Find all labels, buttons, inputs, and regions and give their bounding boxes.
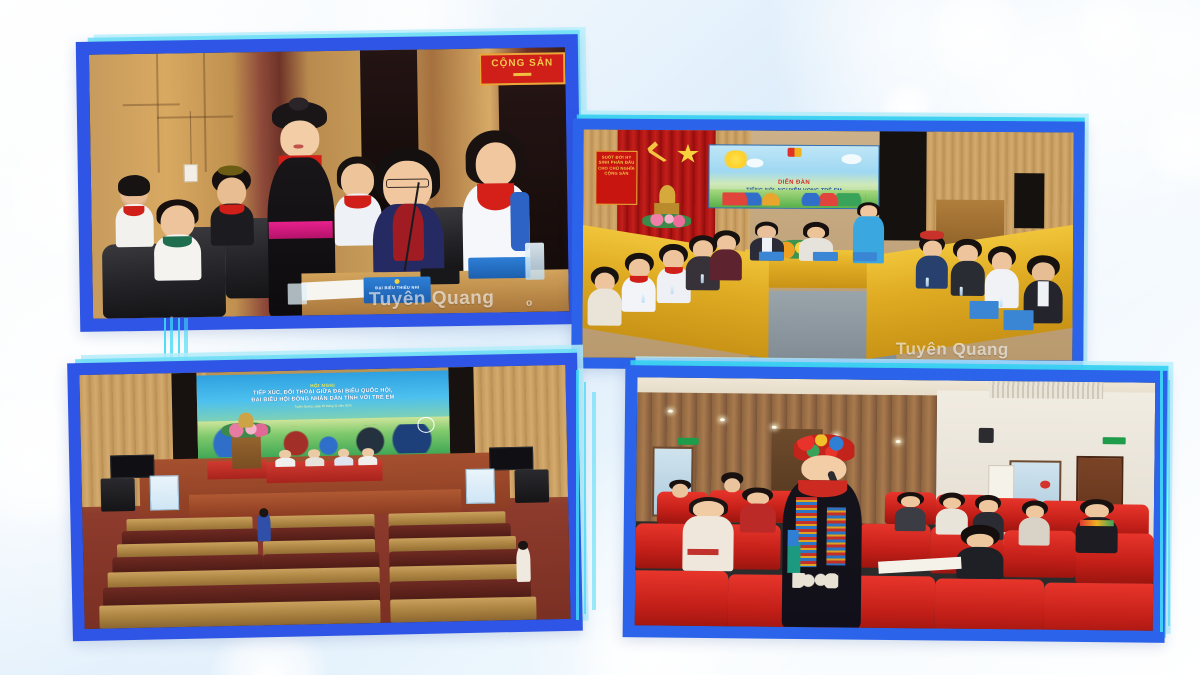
head — [922, 241, 941, 258]
glasses — [386, 179, 429, 188]
plate-emblem — [395, 279, 400, 284]
wall-notice — [183, 164, 198, 183]
red-scarf — [344, 195, 371, 208]
audience-member-ethnic — [1076, 498, 1118, 553]
attendee — [710, 231, 742, 281]
name-card — [970, 301, 1000, 319]
presidium-member — [305, 449, 325, 467]
head — [724, 478, 741, 493]
standee-left — [150, 475, 180, 511]
hair — [118, 175, 150, 196]
scene-forum-overview: SUỐT ĐỜI HY SINH PHẤN ĐẤU CHO CHỦ NGHĨA … — [582, 130, 1073, 361]
tassel-row — [792, 573, 839, 589]
water-glass — [288, 284, 307, 305]
photo-card-top-left[interactable]: CỘNG SẢN — [76, 34, 582, 332]
ethnic-headdress — [920, 231, 944, 240]
torso — [950, 261, 985, 297]
head — [943, 497, 962, 509]
monitor-left — [110, 455, 154, 479]
cloud-graphic — [747, 159, 764, 168]
green-panel — [787, 542, 801, 573]
photo-bottom-left: HỘI NGHỊ TIẾP XÚC, ĐỐI THOẠI GIỮA ĐẠI BI… — [79, 365, 570, 629]
head — [801, 455, 846, 483]
scene-conference-speaker: CỘNG SẢN — [89, 47, 569, 318]
photo-frame: SUỐT ĐỜI HY SINH PHẤN ĐẤU CHO CHỦ NGHĨA … — [571, 118, 1085, 371]
desk-row — [390, 597, 536, 623]
attendee — [210, 171, 254, 246]
photo-frame — [623, 365, 1168, 643]
seat — [935, 579, 1044, 631]
bokeh-circle — [1075, 0, 1143, 74]
audience-member-writing — [956, 524, 1003, 579]
cyan-ribbon-line — [584, 382, 586, 614]
scene-hall-overview: HỘI NGHỊ TIẾP XÚC, ĐỐI THOẠI GIỮA ĐẠI BI… — [79, 365, 570, 629]
audience-member — [895, 492, 926, 532]
water-bottle — [671, 285, 674, 294]
standee-right — [465, 468, 495, 504]
name-card — [852, 252, 877, 261]
seat — [1044, 582, 1156, 630]
hat-knot — [288, 97, 308, 110]
audience-girl-white — [682, 497, 735, 572]
torso — [587, 289, 622, 326]
attendee — [916, 234, 948, 289]
loudspeaker-right — [514, 469, 549, 503]
seat — [635, 571, 729, 631]
photo-card-bottom-right[interactable] — [623, 365, 1168, 643]
cyan-ribbon-line — [592, 392, 596, 610]
torso — [334, 456, 354, 466]
speaker-cabinet — [1014, 173, 1044, 228]
blue-panel — [787, 530, 799, 546]
shirt — [1038, 281, 1049, 306]
banner-line-1: DIỄN ĐÀN — [709, 179, 879, 186]
exit-sign — [1103, 437, 1126, 445]
torso — [358, 455, 378, 465]
head — [967, 533, 993, 547]
standing-person-head — [259, 508, 268, 517]
presidium-member — [334, 448, 354, 466]
attendee — [622, 253, 657, 312]
plate-text: ĐẠI BIỂU THIẾU NHI — [375, 285, 419, 291]
pink-sash — [269, 221, 333, 239]
head — [341, 163, 374, 198]
head — [672, 484, 689, 498]
sign-dash — [513, 73, 531, 76]
desk-row — [249, 600, 381, 626]
photo-bottom-right — [635, 377, 1156, 630]
colorful-sash — [1080, 520, 1113, 526]
scene-audience-speaker — [635, 377, 1156, 630]
name-card — [759, 251, 784, 260]
red-scarf — [477, 183, 515, 210]
photo-top-right: SUỐT ĐỜI HY SINH PHẤN ĐẤU CHO CHỦ NGHĨA … — [582, 130, 1073, 361]
exit-sign — [678, 437, 699, 445]
wall-ac-unit — [989, 381, 1103, 400]
cyan-ribbon-line — [1160, 370, 1163, 632]
sun-graphic — [721, 150, 750, 169]
torso — [305, 457, 325, 467]
ceiling-light — [771, 426, 776, 429]
speaking-child — [780, 433, 865, 627]
name-plate — [468, 256, 530, 278]
presidium-member — [275, 449, 295, 467]
water-bottle — [926, 278, 929, 287]
audience-member — [739, 487, 776, 532]
monitor-right — [489, 447, 533, 471]
water-bottle — [525, 243, 545, 280]
ceiling-light — [720, 418, 725, 421]
name-card — [1004, 310, 1034, 331]
banner-children-graphic — [723, 192, 865, 206]
speaker-box — [979, 428, 995, 443]
torso — [1019, 517, 1050, 545]
embroidery-panel — [827, 507, 846, 565]
head — [217, 177, 247, 207]
photo-card-top-right[interactable]: SUỐT ĐỜI HY SINH PHẤN ĐẤU CHO CHỦ NGHĨA … — [571, 118, 1085, 371]
fire-alarm — [1040, 481, 1050, 489]
head — [901, 496, 920, 507]
unicef-roundel — [417, 417, 435, 433]
attendee — [587, 266, 622, 325]
attendee — [950, 239, 985, 296]
organizer-logo — [787, 148, 801, 157]
water-bottle — [641, 294, 644, 303]
head — [807, 227, 825, 239]
red-blouse — [392, 204, 424, 261]
standing-person-right — [516, 546, 531, 582]
torso — [916, 256, 948, 289]
attendee — [115, 178, 154, 247]
water-bottle — [960, 287, 963, 296]
bust-gold — [238, 412, 253, 428]
photo-frame: CỘNG SẢN — [76, 34, 582, 332]
torso — [276, 457, 296, 467]
event-banner: DIỄN ĐÀN TIẾNG NÓI, NGUYỆN VỌNG TRẺ EM T… — [708, 144, 880, 209]
red-belt — [687, 549, 718, 555]
water-bottle — [700, 274, 703, 283]
flower-arrangement — [642, 214, 691, 228]
name-plate-delegate: ĐẠI BIỂU THIẾU NHI — [364, 276, 431, 303]
torso — [895, 507, 926, 532]
photo-card-bottom-left[interactable]: HỘI NGHỊ TIẾP XÚC, ĐỐI THOẠI GIỮA ĐẠI BI… — [67, 353, 583, 642]
head — [280, 121, 320, 158]
audience-member — [1019, 500, 1051, 545]
white-blouse — [682, 516, 734, 572]
green-scarf — [163, 236, 192, 248]
photo-frame: HỘI NGHỊ TIẾP XÚC, ĐỐI THOẠI GIỮA ĐẠI BI… — [67, 353, 583, 642]
torso — [956, 546, 1003, 579]
name-card — [813, 252, 838, 261]
paper-sheet — [302, 279, 369, 301]
water-bottle — [999, 298, 1002, 307]
desk-row — [99, 602, 265, 628]
loudspeaker-left — [101, 478, 136, 512]
red-slogan-sign-left: SUỐT ĐỜI HY SINH PHẤN ĐẤU CHO CHỦ NGHĨA … — [595, 150, 637, 205]
wall-sign-text: CỘNG SẢN — [491, 58, 553, 70]
attendee — [153, 201, 202, 281]
torso — [710, 250, 742, 281]
presidium-member — [358, 448, 378, 466]
wall-sign-cong-san: CỘNG SẢN — [479, 53, 565, 86]
torso — [739, 504, 776, 533]
bokeh-circle — [1145, 96, 1200, 192]
photo-top-left: CỘNG SẢN — [89, 47, 569, 318]
ceiling-light — [896, 440, 901, 443]
head — [475, 142, 516, 187]
collage-canvas: CỘNG SẢN — [0, 0, 1200, 675]
cloud-graphic — [842, 154, 862, 164]
cyan-ribbon-line — [1168, 380, 1170, 626]
cyan-ribbon-line — [576, 370, 579, 620]
bokeh-circle — [930, 0, 1022, 92]
